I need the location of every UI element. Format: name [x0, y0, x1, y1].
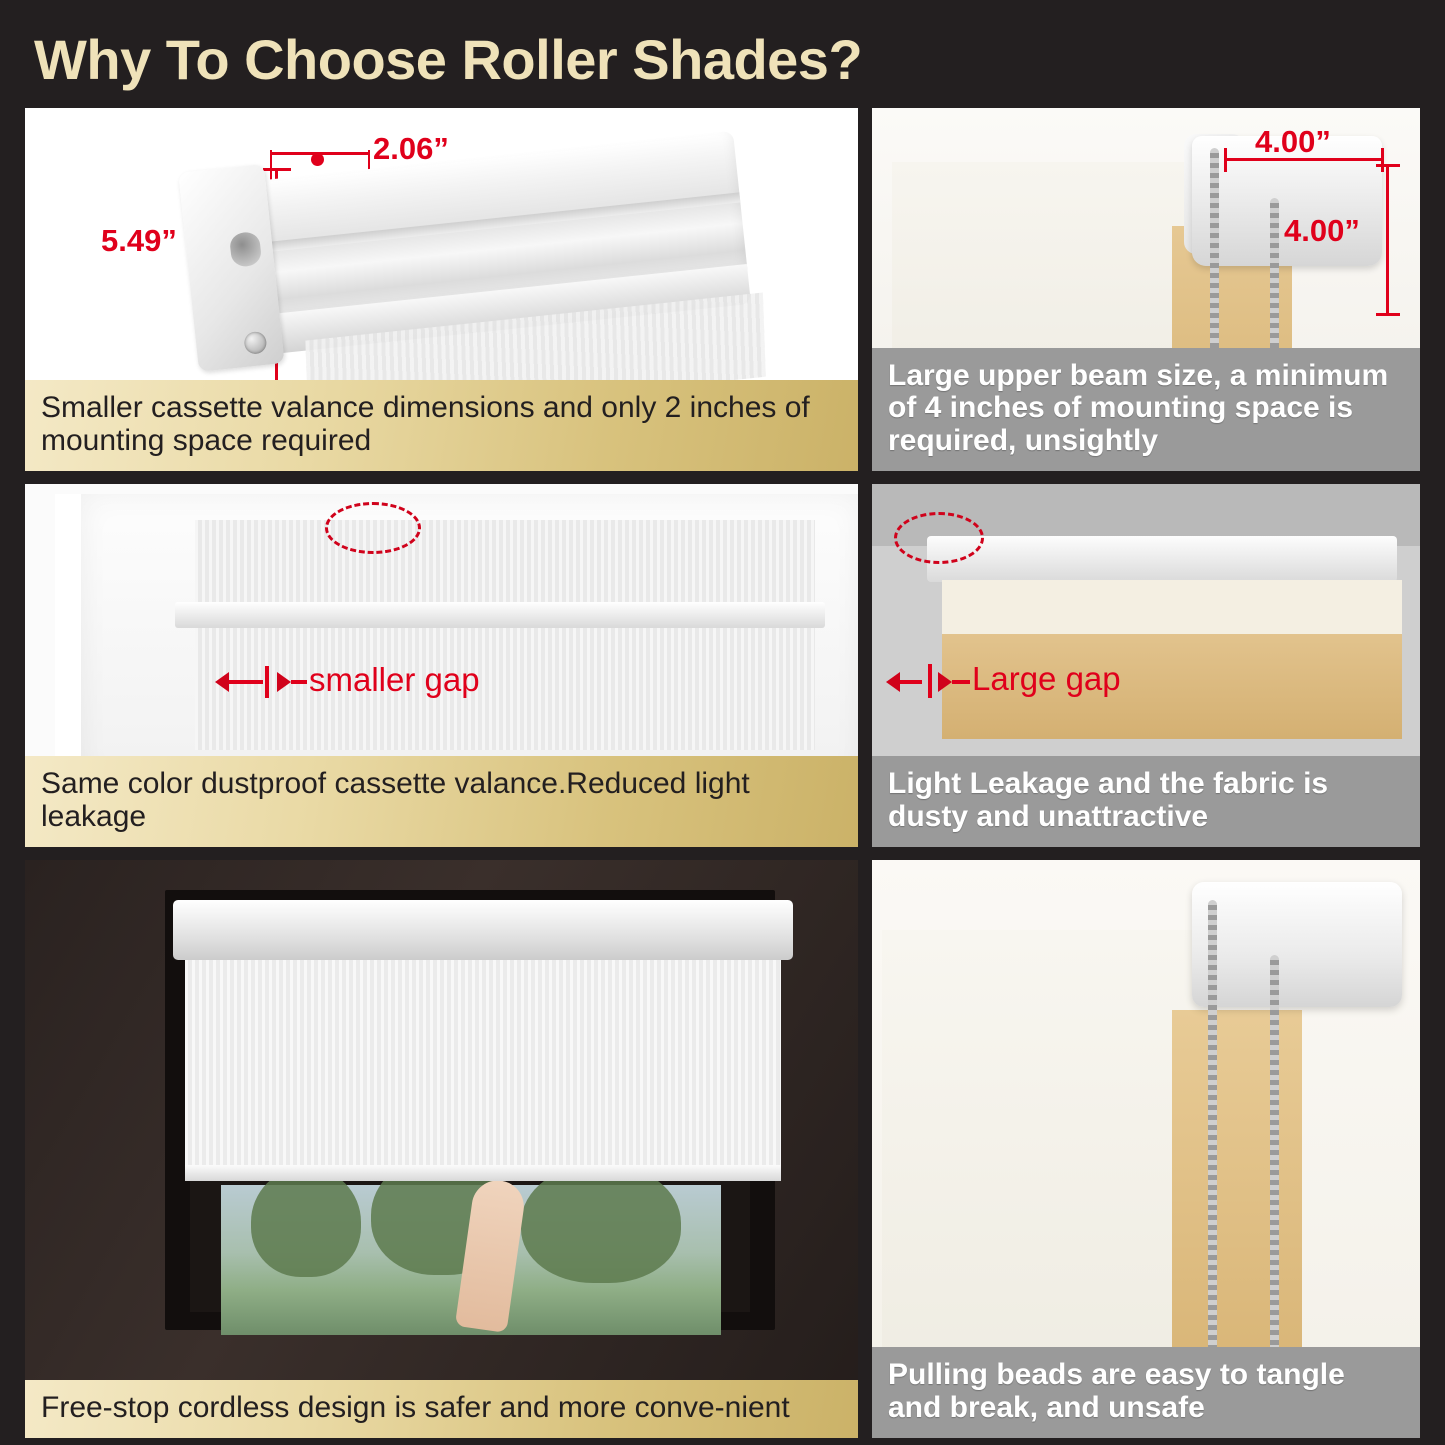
dim-cap-w-right	[1381, 148, 1384, 172]
panel-4: Large gap Light Leakage and the fabric i…	[872, 484, 1420, 847]
infographic-page: Why To Choose Roller Shades? 2.06” 5.49”	[0, 0, 1445, 1445]
dim-cap-w-left	[1224, 148, 1227, 172]
dim-line-depth	[1386, 164, 1389, 316]
gap-tick	[928, 664, 932, 698]
tree-shape	[251, 1167, 361, 1277]
upper-beam	[1192, 882, 1402, 1007]
gap-arrow-right-line	[291, 680, 307, 684]
panel-5: Free-stop cordless design is safer and m…	[25, 860, 858, 1438]
gap-arrow-left-head	[886, 672, 900, 692]
shade-headrail	[927, 536, 1397, 582]
gap-arrow-right-head	[277, 672, 291, 692]
panel-6: Pulling beads are easy to tangle and bre…	[872, 860, 1420, 1438]
panel-grid: 2.06” 5.49” Smaller cass	[0, 108, 1445, 1438]
dim-cap-d-top	[1376, 164, 1400, 167]
dimension-width-label: 4.00”	[1255, 124, 1331, 160]
dimension-depth-label: 4.00”	[1284, 213, 1360, 249]
bead-chain-left	[1208, 900, 1217, 1392]
panel-1: 2.06” 5.49” Smaller cass	[25, 108, 858, 471]
shade-fabric	[185, 956, 781, 1171]
dim-cap-d-bottom	[1376, 313, 1400, 316]
panel-4-caption: Light Leakage and the fabric is dusty an…	[872, 756, 1420, 847]
gap-arrow-right-head	[938, 672, 952, 692]
panel-5-photo	[25, 860, 858, 1438]
cassette-valance	[173, 900, 793, 960]
shade-bottom-bar	[185, 1165, 781, 1181]
panel-5-caption: Free-stop cordless design is safer and m…	[25, 1380, 858, 1438]
gap-arrow-left-head	[215, 672, 229, 692]
shade-middle-rail	[175, 602, 825, 628]
gap-label: smaller gap	[309, 661, 480, 699]
highlight-ellipse-icon	[325, 502, 421, 554]
shade-fabric-white	[882, 930, 1212, 1390]
panel-2-caption: Large upper beam size, a minimum of 4 in…	[872, 348, 1420, 471]
shade-fabric-beige	[1172, 1010, 1302, 1390]
panel-1-caption: Smaller cassette valance dimensions and …	[25, 380, 858, 471]
shade-fabric-light	[942, 580, 1402, 642]
bead-chain-right	[1270, 955, 1279, 1392]
page-title: Why To Choose Roller Shades?	[34, 24, 1414, 94]
tree-shape	[521, 1163, 681, 1283]
gap-label: Large gap	[972, 660, 1121, 698]
gap-arrow-right-line	[952, 680, 970, 684]
dimension-height-label: 5.49”	[101, 223, 177, 259]
highlight-ellipse-icon	[894, 512, 984, 564]
valance-screw	[243, 331, 267, 355]
valance-mount-hole	[229, 231, 262, 268]
gap-tick	[265, 666, 269, 698]
window-shade-fabric	[195, 520, 815, 750]
panel-3: smaller gap Same color dustproof cassett…	[25, 484, 858, 847]
cassette-valance-illustration	[164, 115, 755, 408]
panel-2: 4.00” 4.00” Large upper beam size, a min…	[872, 108, 1420, 471]
panel-3-caption: Same color dustproof cassette valance.Re…	[25, 756, 858, 847]
panel-6-caption: Pulling beads are easy to tangle and bre…	[872, 1347, 1420, 1438]
